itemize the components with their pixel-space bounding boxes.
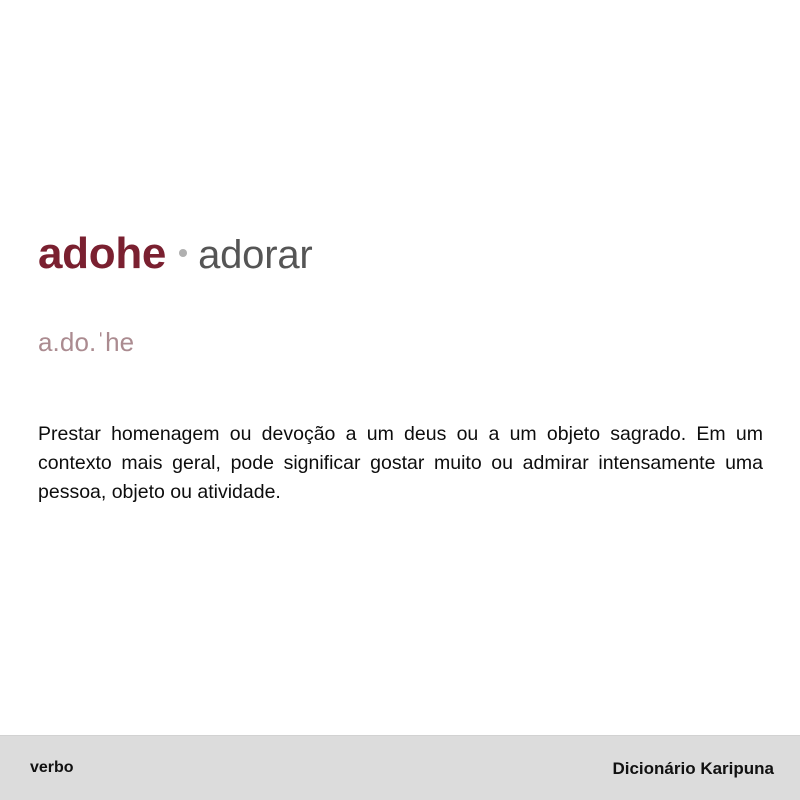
dictionary-entry-card: adohe adorar a.do.ˈhe Prestar homenagem … — [0, 0, 800, 800]
headword: adohe — [38, 232, 166, 276]
pronunciation: a.do.ˈhe — [38, 329, 134, 355]
bullet-dot-icon — [179, 249, 187, 257]
translation: adorar — [198, 235, 312, 275]
footer-bar: verbo Dicionário Karipuna — [0, 735, 800, 800]
definition-text: Prestar homenagem ou devoção a um deus o… — [38, 420, 763, 507]
dictionary-source-label: Dicionário Karipuna — [612, 760, 774, 777]
headword-line: adohe adorar — [38, 232, 313, 276]
part-of-speech-label: verbo — [30, 760, 74, 776]
